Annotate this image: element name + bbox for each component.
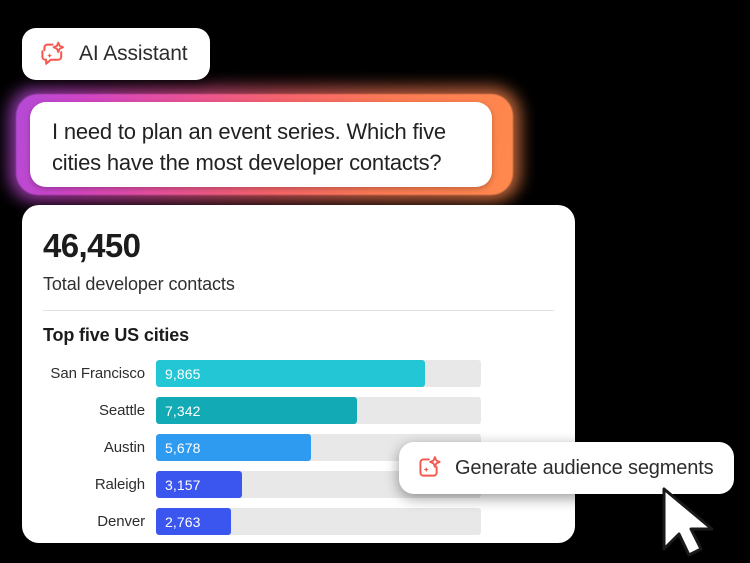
user-prompt-text: I need to plan an event series. Which fi… xyxy=(52,116,470,178)
bar-category-label: Raleigh xyxy=(43,476,156,493)
total-contacts-caption: Total developer contacts xyxy=(43,274,554,295)
ai-sparkle-chat-icon xyxy=(40,40,68,68)
card-divider xyxy=(43,310,554,311)
bar-fill: 7,342 xyxy=(156,397,357,424)
bar-row: Seattle7,342 xyxy=(43,395,554,426)
bar-value-label: 2,763 xyxy=(165,514,201,530)
bar-track: 7,342 xyxy=(156,397,481,424)
ai-assistant-badge-label: AI Assistant xyxy=(79,42,188,66)
generate-audience-segments-button[interactable]: Generate audience segments xyxy=(399,442,734,494)
bar-track: 9,865 xyxy=(156,360,481,387)
user-prompt-bubble[interactable]: I need to plan an event series. Which fi… xyxy=(30,102,492,187)
bar-category-label: Denver xyxy=(43,513,156,530)
mouse-pointer-icon xyxy=(660,487,722,559)
bar-value-label: 7,342 xyxy=(165,403,201,419)
bar-value-label: 9,865 xyxy=(165,366,201,382)
ai-assistant-badge[interactable]: AI Assistant xyxy=(22,28,210,80)
bar-category-label: San Francisco xyxy=(43,365,156,382)
chart-title: Top five US cities xyxy=(43,325,554,346)
screen-root: AI Assistant I need to plan an event ser… xyxy=(0,0,750,563)
bar-row: Denver2,763 xyxy=(43,506,554,537)
bar-value-label: 5,678 xyxy=(165,440,201,456)
bar-fill: 2,763 xyxy=(156,508,231,535)
ai-sparkle-square-icon xyxy=(416,455,443,482)
total-contacts-value: 46,450 xyxy=(43,227,554,265)
bar-row: San Francisco9,865 xyxy=(43,358,554,389)
bar-category-label: Austin xyxy=(43,439,156,456)
generate-audience-segments-label: Generate audience segments xyxy=(455,457,714,480)
bar-fill: 9,865 xyxy=(156,360,425,387)
bar-category-label: Seattle xyxy=(43,402,156,419)
bar-fill: 5,678 xyxy=(156,434,311,461)
bar-value-label: 3,157 xyxy=(165,477,201,493)
bar-track: 2,763 xyxy=(156,508,481,535)
bar-fill: 3,157 xyxy=(156,471,242,498)
